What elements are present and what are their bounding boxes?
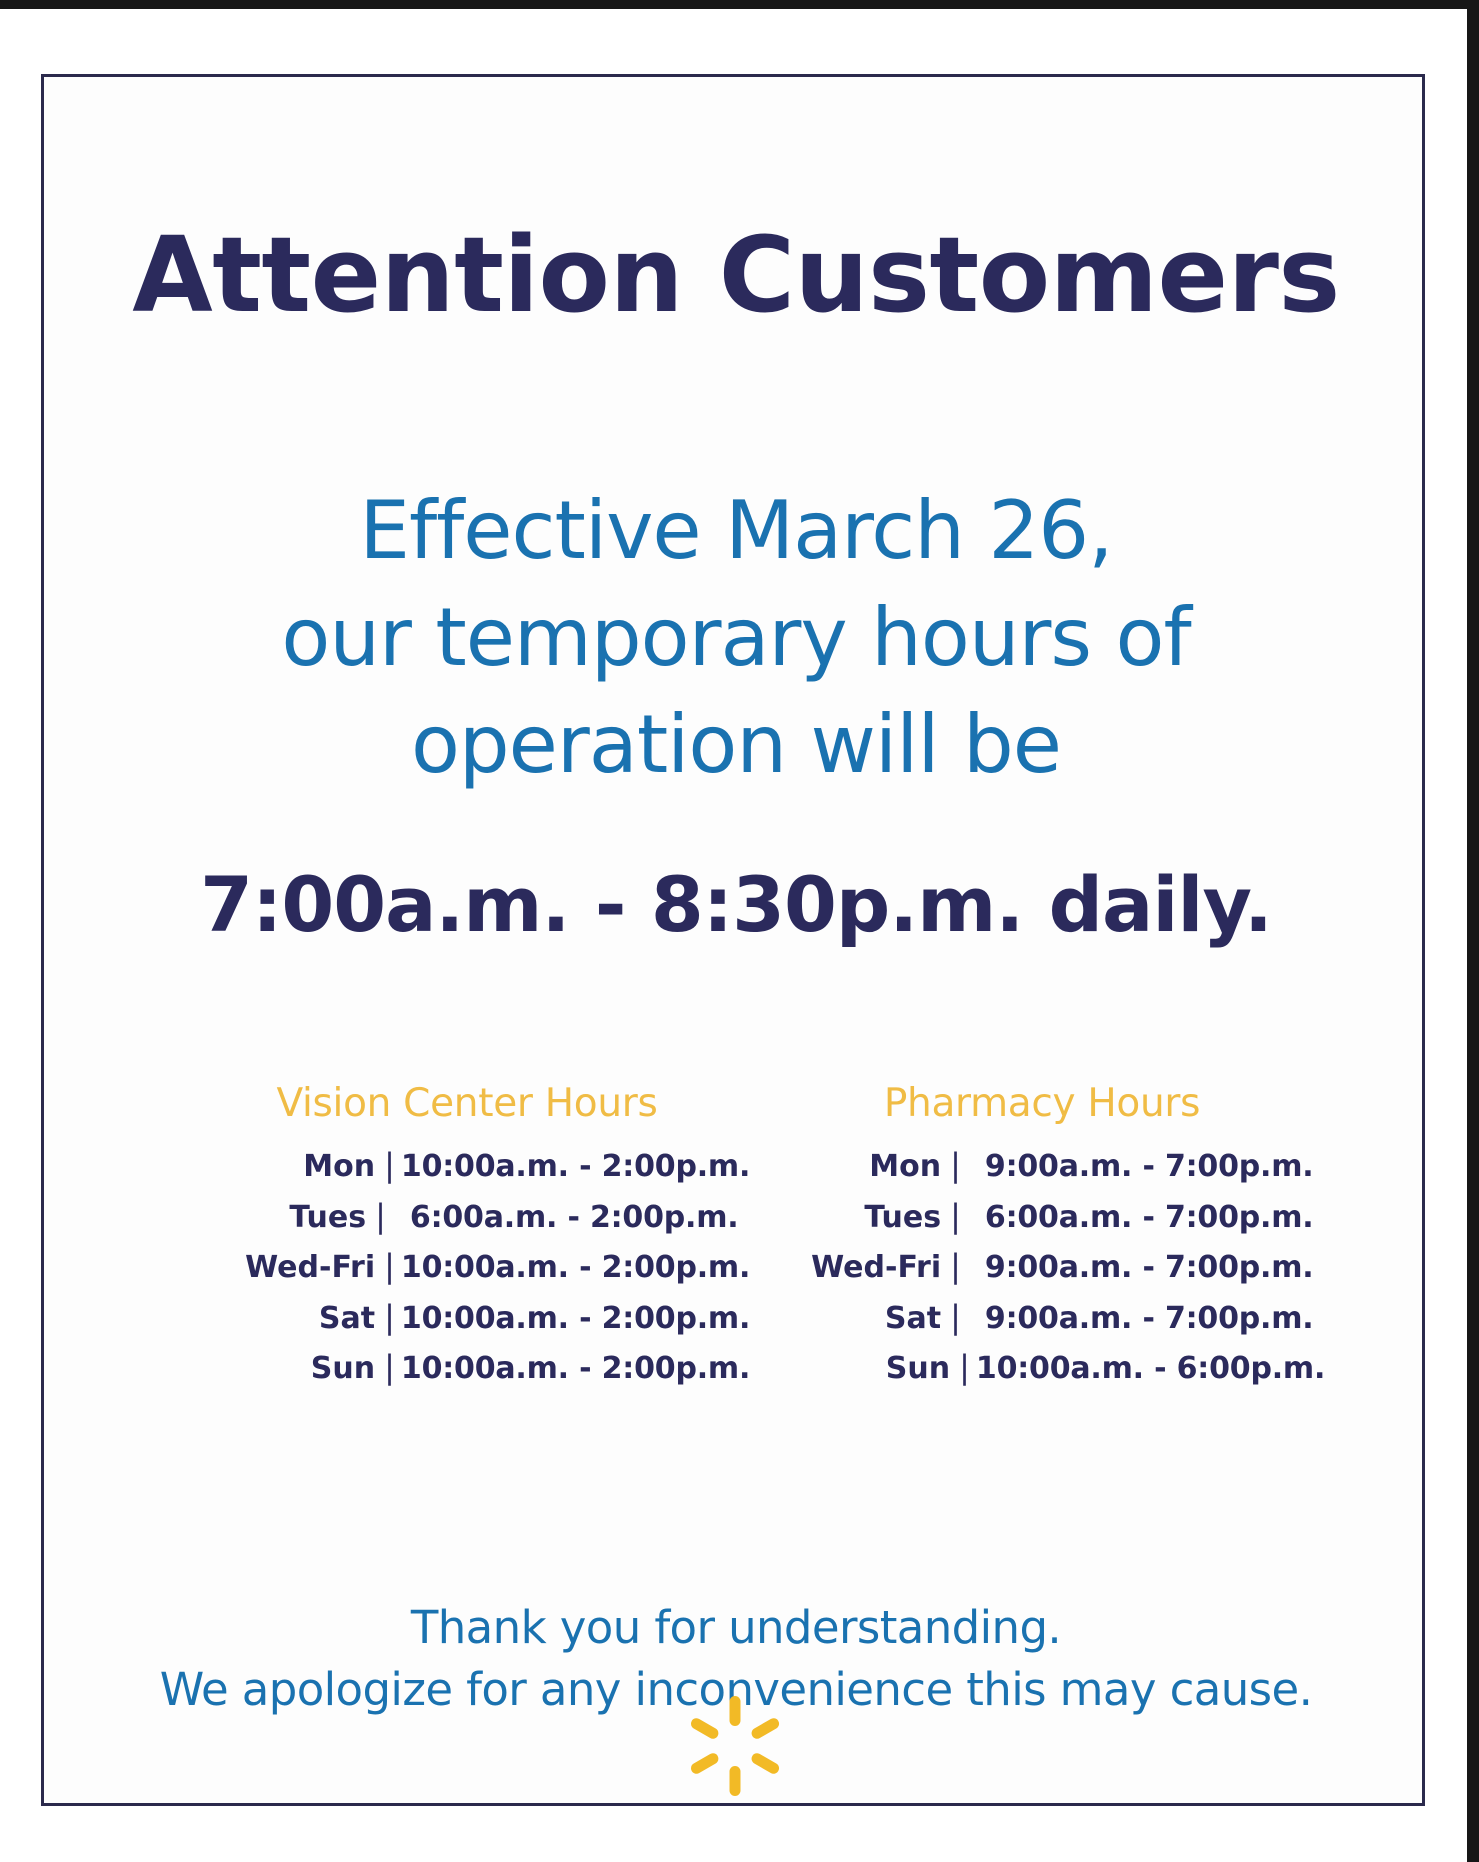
effective-line-3: operation will be bbox=[44, 691, 1428, 798]
table-row: Tues | 6:00a.m. - 2:00p.m. bbox=[198, 1191, 736, 1242]
table-row: Sat | 10:00a.m. - 2:00p.m. bbox=[198, 1292, 736, 1343]
row-divider: | bbox=[384, 1140, 397, 1191]
row-divider: | bbox=[950, 1191, 963, 1242]
closing-line-1: Thank you for understanding. bbox=[44, 1597, 1428, 1659]
table-row: Wed-Fri | 9:00a.m. - 7:00p.m. bbox=[788, 1241, 1296, 1292]
page-title: Attention Customers bbox=[44, 219, 1428, 331]
table-row: Sat | 9:00a.m. - 7:00p.m. bbox=[788, 1292, 1296, 1343]
row-divider: | bbox=[959, 1342, 972, 1393]
day-label: Tues bbox=[214, 1194, 375, 1241]
row-divider: | bbox=[384, 1241, 397, 1292]
hours-value: 9:00a.m. - 7:00p.m. bbox=[963, 1143, 1295, 1190]
effective-notice: Effective March 26, our temporary hours … bbox=[44, 477, 1428, 799]
table-row: Mon | 10:00a.m. - 2:00p.m. bbox=[198, 1140, 736, 1191]
row-divider: | bbox=[950, 1292, 963, 1343]
hours-value: 9:00a.m. - 7:00p.m. bbox=[963, 1244, 1295, 1291]
hours-value: 10:00a.m. - 2:00p.m. bbox=[397, 1295, 711, 1342]
sign-page: Attention Customers Effective March 26, … bbox=[0, 0, 1479, 1862]
sign-content: Attention Customers Effective March 26, … bbox=[44, 77, 1428, 1809]
day-label: Mon bbox=[223, 1143, 384, 1190]
day-label: Wed-Fri bbox=[223, 1244, 384, 1291]
table-row: Sun | 10:00a.m. - 2:00p.m. bbox=[198, 1342, 736, 1393]
hours-value: 10:00a.m. - 2:00p.m. bbox=[397, 1143, 711, 1190]
store-hours-text: 7:00a.m. - 8:30p.m. daily. bbox=[44, 860, 1428, 949]
row-divider: | bbox=[384, 1342, 397, 1393]
sign-border-frame: Attention Customers Effective March 26, … bbox=[41, 74, 1425, 1806]
pharmacy-hours-title: Pharmacy Hours bbox=[788, 1081, 1296, 1126]
day-label: Sun bbox=[798, 1345, 959, 1392]
hours-value: 6:00a.m. - 7:00p.m. bbox=[963, 1194, 1295, 1241]
pharmacy-hours-table: Pharmacy Hours Mon | 9:00a.m. - 7:00p.m.… bbox=[736, 1081, 1296, 1393]
day-label: Sun bbox=[223, 1345, 384, 1392]
hours-value: 10:00a.m. - 2:00p.m. bbox=[397, 1244, 711, 1291]
day-label: Mon bbox=[789, 1143, 950, 1190]
hours-value: 9:00a.m. - 7:00p.m. bbox=[963, 1295, 1295, 1342]
scan-edge-top bbox=[0, 0, 1479, 9]
table-row: Wed-Fri | 10:00a.m. - 2:00p.m. bbox=[198, 1241, 736, 1292]
vision-center-hours-title: Vision Center Hours bbox=[198, 1081, 736, 1126]
row-divider: | bbox=[375, 1191, 388, 1242]
table-row: Mon | 9:00a.m. - 7:00p.m. bbox=[788, 1140, 1296, 1191]
effective-line-1: Effective March 26, bbox=[44, 477, 1428, 584]
hours-value: 10:00a.m. - 6:00p.m. bbox=[972, 1345, 1286, 1392]
hours-tables: Vision Center Hours Mon | 10:00a.m. - 2:… bbox=[44, 1081, 1428, 1393]
table-row: Sun | 10:00a.m. - 6:00p.m. bbox=[788, 1342, 1296, 1393]
walmart-spark-icon bbox=[683, 1694, 787, 1798]
day-label: Sat bbox=[789, 1295, 950, 1342]
effective-line-2: our temporary hours of bbox=[44, 584, 1428, 691]
vision-center-hours-table: Vision Center Hours Mon | 10:00a.m. - 2:… bbox=[176, 1081, 736, 1393]
day-label: Sat bbox=[223, 1295, 384, 1342]
row-divider: | bbox=[950, 1241, 963, 1292]
day-label: Wed-Fri bbox=[789, 1244, 950, 1291]
hours-value: 10:00a.m. - 2:00p.m. bbox=[397, 1345, 711, 1392]
hours-value: 6:00a.m. - 2:00p.m. bbox=[388, 1194, 720, 1241]
table-row: Tues | 6:00a.m. - 7:00p.m. bbox=[788, 1191, 1296, 1242]
row-divider: | bbox=[950, 1140, 963, 1191]
day-label: Tues bbox=[789, 1194, 950, 1241]
row-divider: | bbox=[384, 1292, 397, 1343]
scan-edge-right bbox=[1467, 0, 1479, 1862]
